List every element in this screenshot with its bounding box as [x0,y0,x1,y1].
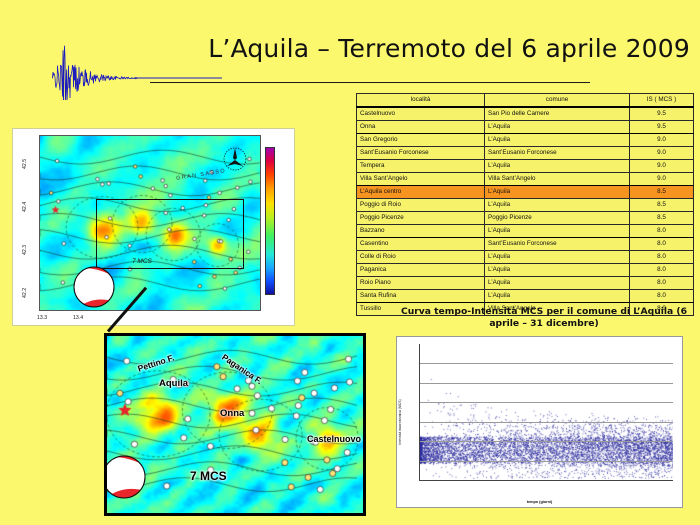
macroseismic-intensity-map[interactable]: 42.5 42.4 42.3 42.2 13.3 13.4 GRAN SASSO… [12,128,295,326]
map-lat-tick-1: 42.4 [22,202,28,212]
cell-intensity: 8.5 [629,212,693,225]
cell-localita: Poggio Picenze [357,212,485,225]
mcs-contour-label: 7 MCS [132,258,152,265]
table-row[interactable]: San GregorioL’Aquila9.0 [357,134,694,147]
cell-localita: San Gregorio [357,134,485,147]
cell-comune: L’Aquila [485,290,630,303]
cell-intensity: 8.0 [629,264,693,277]
cell-comune: L’Aquila [485,264,630,277]
cell-localita: Bazzano [357,225,485,238]
title-divider [150,82,590,83]
map-lat-tick-2: 42.3 [22,245,28,255]
table-header-row: località comune IS ( MCS ) [357,94,694,108]
chart-ylabel: Intensità macrosismica (MCS) [398,399,402,444]
chart-xlabel: tempo (giorni) [397,500,682,504]
cell-intensity: 9.5 [629,121,693,134]
inset-label: Onna [220,408,244,419]
map-main-canvas: GRAN SASSO 7 MCS [39,135,261,311]
chart-gridline [420,441,673,442]
cell-comune: Villa Sant’Angelo [485,173,630,186]
cell-comune: L’Aquila [485,199,630,212]
map-lat-tick-0: 42.5 [22,159,28,169]
chart-gridline [420,461,673,462]
cell-localita: Colle di Roio [357,251,485,264]
focal-mechanism-beachball-inset-icon [107,454,147,500]
table-body: CastelnuovoSan Pio delle Camere9.5OnnaL’… [357,107,694,316]
inset-label: 7 MCS [190,469,227,483]
compass-rose-icon [222,146,248,172]
inset-map-canvas: Pettino F.Paganica F.AquilaOnnaCastelnuo… [107,336,363,513]
cell-localita: Casentino [357,238,485,251]
table-row[interactable]: L’Aquila centroL’Aquila8.5 [357,186,694,199]
cell-comune: L’Aquila [485,277,630,290]
title-area: L’Aquila – Terremoto del 6 aprile 2009 [150,28,695,96]
cell-comune: L’Aquila [485,186,630,199]
intensity-table: località comune IS ( MCS ) CastelnuovoSa… [356,93,694,316]
table-row[interactable]: Roio PianoL’Aquila8.0 [357,277,694,290]
intensity-colorbar [265,147,275,295]
col-header-is: IS ( MCS ) [629,94,693,108]
cell-intensity: 8.5 [629,199,693,212]
table-row[interactable]: BazzanoL’Aquila8.0 [357,225,694,238]
cell-localita: Castelnuovo [357,107,485,121]
cell-intensity: 9.0 [629,160,693,173]
cell-intensity: 8.0 [629,225,693,238]
table-row[interactable]: CasentinoSant’Eusanio Forconese8.0 [357,238,694,251]
cell-intensity: 8.0 [629,290,693,303]
map-lon-tick-1: 13.4 [73,315,83,321]
chart-frame: Intensità macrosismica (MCS) 0123456726/… [396,336,683,508]
chart-gridline [420,383,673,384]
col-header-localita: località [357,94,485,108]
table-row[interactable]: Colle di RoioL’Aquila8.0 [357,251,694,264]
cell-comune: L’Aquila [485,121,630,134]
inset-label: Aquila [159,378,188,389]
table-row[interactable]: Santa RufinaL’Aquila8.0 [357,290,694,303]
table-row[interactable]: Poggio PicenzePoggio Picenze8.5 [357,212,694,225]
locality-intensity-table[interactable]: località comune IS ( MCS ) CastelnuovoSa… [356,93,694,316]
table-row[interactable]: Sant’Eusanio ForconeseSant’Eusanio Forco… [357,147,694,160]
cell-intensity: 9.0 [629,173,693,186]
cell-localita: Onna [357,121,485,134]
table-row[interactable]: Poggio di RoioL’Aquila8.5 [357,199,694,212]
cell-comune: L’Aquila [485,134,630,147]
table-row[interactable]: TemperaL’Aquila9.0 [357,160,694,173]
col-header-comune: comune [485,94,630,108]
chart-plot-area: 0123456726/03/200920/04/200927/05/200926… [419,344,673,481]
cell-intensity: 9.0 [629,147,693,160]
cell-intensity: 9.5 [629,107,693,121]
cell-comune: Sant’Eusanio Forconese [485,147,630,160]
cell-localita: Paganica [357,264,485,277]
focal-mechanism-beachball-icon [72,265,116,309]
table-row[interactable]: PaganicaL’Aquila8.0 [357,264,694,277]
zoom-extent-rectangle [96,199,244,269]
page-title: L’Aquila – Terremoto del 6 aprile 2009 [208,34,690,63]
map-lon-tick-0: 13.3 [37,315,47,321]
zoom-inset-map[interactable]: Pettino F.Paganica F.AquilaOnnaCastelnuo… [104,333,366,516]
map-lat-tick-3: 42.2 [22,288,28,298]
cell-localita: Santa Rufina [357,290,485,303]
cell-comune: Poggio Picenze [485,212,630,225]
cell-localita: Sant’Eusanio Forconese [357,147,485,160]
table-row[interactable]: OnnaL’Aquila9.5 [357,121,694,134]
cell-localita: Tempera [357,160,485,173]
cell-localita: L’Aquila centro [357,186,485,199]
chart-gridline [420,363,673,364]
cell-localita: Poggio di Roio [357,199,485,212]
cell-comune: Sant’Eusanio Forconese [485,238,630,251]
cell-localita: Villa Sant’Angelo [357,173,485,186]
cell-comune: L’Aquila [485,225,630,238]
time-intensity-chart[interactable]: Curva tempo-Intensità MCS per il comune … [389,306,689,518]
cell-intensity: 8.0 [629,251,693,264]
chart-title: Curva tempo-Intensità MCS per il comune … [398,306,690,330]
table-row[interactable]: CastelnuovoSan Pio delle Camere9.5 [357,107,694,121]
cell-comune: L’Aquila [485,160,630,173]
chart-gridline [420,422,673,423]
table-row[interactable]: Villa Sant’AngeloVilla Sant’Angelo9.0 [357,173,694,186]
cell-intensity: 8.0 [629,277,693,290]
cell-comune: L’Aquila [485,251,630,264]
cell-localita: Roio Piano [357,277,485,290]
cell-intensity: 9.0 [629,134,693,147]
cell-intensity: 8.5 [629,186,693,199]
inset-label: Castelnuovo [307,434,361,444]
chart-gridline [420,402,673,403]
cell-intensity: 8.0 [629,238,693,251]
cell-comune: San Pio delle Camere [485,107,630,121]
slide-root: L’Aquila – Terremoto del 6 aprile 2009 4… [0,0,700,525]
